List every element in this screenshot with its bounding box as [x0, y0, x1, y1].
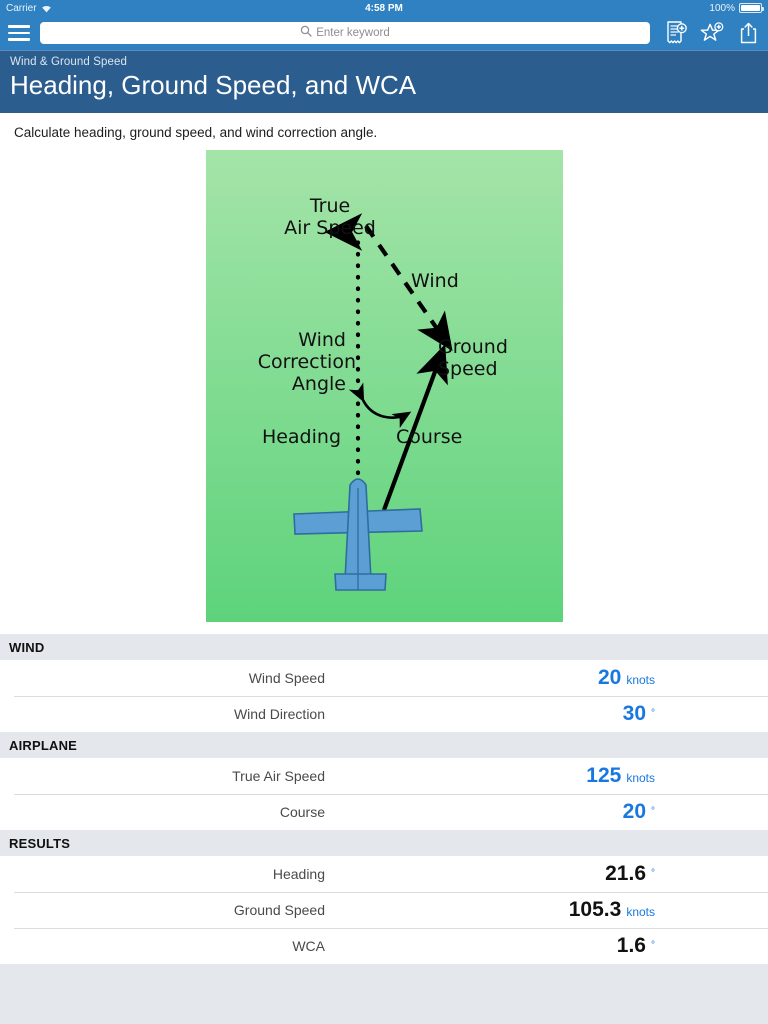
row-value-unit: °	[651, 806, 655, 817]
wind-triangle-diagram: True Air Speed Wind Ground Speed Wind Co…	[206, 150, 563, 622]
top-toolbar: Enter keyword	[0, 16, 768, 50]
row-value-number: 30	[623, 702, 646, 726]
breadcrumb[interactable]: Wind & Ground Speed	[10, 56, 758, 68]
row-value: 105.3knots	[335, 898, 768, 922]
wind-triangle-svg: True Air Speed Wind Ground Speed Wind Co…	[206, 150, 563, 622]
row-label: Wind Direction	[0, 706, 335, 722]
row-value-unit: °	[651, 708, 655, 719]
status-bar-clock: 4:58 PM	[0, 3, 768, 14]
share-icon[interactable]	[736, 20, 760, 46]
page-description: Calculate heading, ground speed, and win…	[0, 113, 768, 150]
row-value-number: 105.3	[569, 898, 622, 922]
section-rows-results: Heading21.6°Ground Speed105.3knotsWCA1.6…	[0, 856, 768, 964]
search-input[interactable]: Enter keyword	[40, 22, 650, 44]
status-bar-left: Carrier	[6, 3, 52, 14]
carrier-label: Carrier	[6, 3, 37, 14]
row-value-unit: °	[651, 868, 655, 879]
row-value: 21.6°	[335, 862, 768, 886]
label-wca-line1: Wind	[298, 329, 346, 351]
status-bar: Carrier 4:58 PM 100%	[0, 0, 768, 16]
label-course: Course	[396, 426, 462, 448]
page-title: Heading, Ground Speed, and WCA	[10, 71, 758, 101]
page-header: Wind & Ground Speed Heading, Ground Spee…	[0, 50, 768, 113]
table-row[interactable]: Heading21.6°	[0, 856, 768, 892]
search-icon	[300, 24, 312, 42]
battery-percent-label: 100%	[709, 3, 735, 14]
label-true-air-speed-line2: Air Speed	[284, 217, 376, 239]
row-value-unit: knots	[626, 771, 655, 785]
row-label: True Air Speed	[0, 768, 335, 784]
row-value-number: 20	[598, 666, 621, 690]
row-label: WCA	[0, 938, 335, 954]
diagram-container: True Air Speed Wind Ground Speed Wind Co…	[0, 150, 768, 634]
row-value: 20knots	[335, 666, 768, 690]
row-value-number: 1.6	[617, 934, 646, 958]
row-value: 125knots	[335, 764, 768, 788]
row-value-number: 21.6	[605, 862, 646, 886]
status-bar-right: 100%	[709, 3, 762, 14]
table-row[interactable]: Ground Speed105.3knots	[0, 892, 768, 928]
label-wca-line3: Angle	[291, 373, 345, 395]
label-true-air-speed-line1: True	[308, 195, 349, 217]
battery-full-icon	[739, 3, 762, 13]
row-value-number: 125	[586, 764, 621, 788]
search-inner: Enter keyword	[300, 24, 390, 42]
section-rows-airplane: True Air Speed125knotsCourse20°	[0, 758, 768, 830]
wifi-icon	[41, 4, 52, 13]
label-ground-speed-line1: Ground	[438, 336, 508, 358]
section-header-results: RESULTS	[0, 830, 768, 856]
add-note-icon[interactable]	[664, 20, 688, 46]
label-ground-speed-line2: Speed	[438, 358, 498, 380]
table-row[interactable]: Wind Direction30°	[0, 696, 768, 732]
row-value-number: 20	[623, 800, 646, 824]
row-value-unit: knots	[626, 673, 655, 687]
search-placeholder: Enter keyword	[316, 27, 390, 39]
table-row[interactable]: WCA1.6°	[0, 928, 768, 964]
row-value: 1.6°	[335, 934, 768, 958]
label-heading: Heading	[261, 426, 340, 448]
section-rows-wind: Wind Speed20knotsWind Direction30°	[0, 660, 768, 732]
values-table: WINDWind Speed20knotsWind Direction30°AI…	[0, 634, 768, 1024]
row-label: Heading	[0, 866, 335, 882]
row-value-unit: °	[651, 940, 655, 951]
label-wca-line2: Correction	[257, 351, 355, 373]
content-area: Calculate heading, ground speed, and win…	[0, 113, 768, 1024]
row-value: 20°	[335, 800, 768, 824]
section-header-wind: WIND	[0, 634, 768, 660]
row-label: Course	[0, 804, 335, 820]
table-row[interactable]: True Air Speed125knots	[0, 758, 768, 794]
row-label: Wind Speed	[0, 670, 335, 686]
table-row[interactable]: Course20°	[0, 794, 768, 830]
row-value-unit: knots	[626, 905, 655, 919]
app-screen: Carrier 4:58 PM 100% Enter keyword	[0, 0, 768, 1024]
row-label: Ground Speed	[0, 902, 335, 918]
hamburger-menu-icon[interactable]	[8, 24, 30, 42]
row-value: 30°	[335, 702, 768, 726]
toolbar-icons	[660, 20, 760, 46]
add-favorite-star-icon[interactable]	[700, 20, 724, 46]
section-header-airplane: AIRPLANE	[0, 732, 768, 758]
label-wind: Wind	[411, 270, 459, 292]
table-row[interactable]: Wind Speed20knots	[0, 660, 768, 696]
